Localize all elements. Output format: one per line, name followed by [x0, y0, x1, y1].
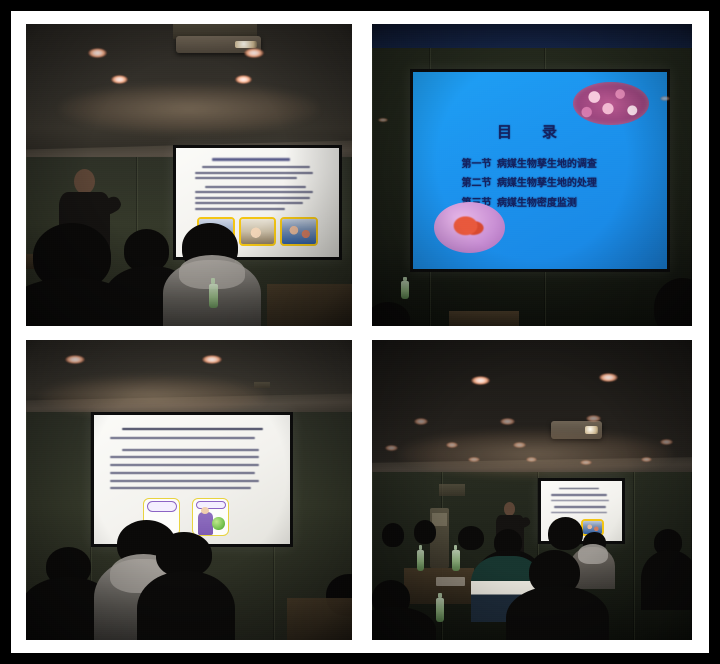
water-bottle — [452, 550, 460, 571]
projection-screen: 目 录 第一节 病媒生物孳生地的调查 第二节 病媒生物孳生地的处理 第三节 病媒… — [410, 69, 669, 271]
water-bottle — [417, 550, 425, 571]
slide-item-text: 病媒生物孳生地的处理 — [497, 174, 597, 189]
water-bottle — [401, 281, 409, 299]
projection-screen — [91, 412, 293, 547]
photo-top-right: 目 录 第一节 病媒生物孳生地的调查 第二节 病媒生物孳生地的处理 第三节 病媒… — [372, 24, 692, 326]
slide-thumbnail — [280, 217, 318, 245]
projector-lens — [235, 41, 257, 48]
insect-oval-image — [434, 202, 505, 253]
photo-bottom-left — [26, 340, 352, 640]
slide-item-section: 第一节 — [461, 155, 491, 170]
water-bottle — [209, 284, 219, 308]
ceiling-downlight — [202, 355, 222, 364]
water-bottle — [436, 598, 444, 622]
ceiling-downlight — [111, 75, 129, 83]
audience-head — [382, 523, 404, 547]
slide-title: 目 录 — [497, 121, 565, 142]
ceiling-downlight — [65, 355, 85, 364]
photo-collage: 目 录 第一节 病媒生物孳生地的调查 第二节 病媒生物孳生地的处理 第三节 病媒… — [0, 0, 720, 664]
person-globe-cartoon — [192, 498, 229, 537]
audience-head — [414, 520, 436, 544]
photo-bottom-right — [372, 340, 692, 640]
ceiling-downlight — [244, 48, 264, 58]
audience-head — [458, 526, 484, 550]
slide-item-section: 第二节 — [461, 174, 491, 189]
slide-thumbnail — [239, 217, 277, 245]
photo-top-left — [26, 24, 352, 326]
slide-item-text: 病媒生物密度监测 — [497, 194, 577, 209]
ceiling-downlight — [88, 48, 108, 58]
slide-heading — [212, 158, 290, 161]
cells-oval-image — [573, 82, 649, 125]
ceiling-downlight — [235, 75, 253, 83]
ceiling-vent — [254, 382, 270, 388]
slide-item-text: 病媒生物孳生地的调查 — [497, 155, 597, 170]
audience-head — [548, 517, 583, 550]
